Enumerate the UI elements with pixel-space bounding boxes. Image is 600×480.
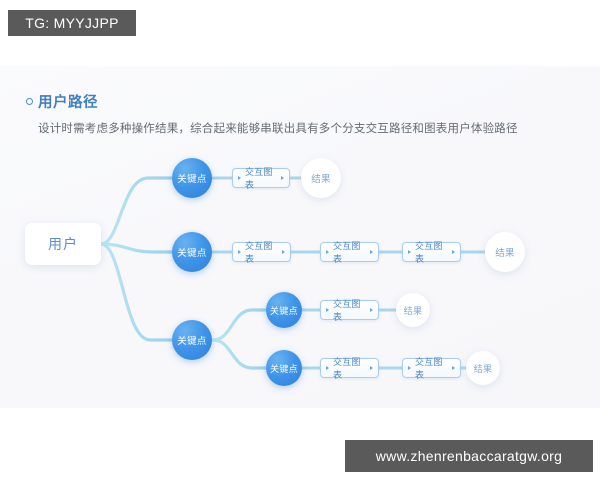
node-chart-branch-3a-0-label: 交互图表 (333, 297, 366, 323)
node-keypoint-branch-1[interactable]: 关键点 (172, 158, 212, 198)
watermark-bottom-text: www.zhenrenbaccaratgw.org (376, 449, 563, 463)
node-result-branch-3b[interactable]: 结果 (466, 351, 500, 385)
node-chart-branch-2-2[interactable]: 交互图表 (402, 242, 461, 262)
arrow-right-icon (282, 250, 285, 254)
node-result-branch-3b-label: 结果 (474, 362, 493, 375)
arrow-left-icon (238, 250, 241, 254)
arrow-left-icon (326, 308, 329, 312)
watermark-bottom-url: www.zhenrenbaccaratgw.org (345, 440, 593, 472)
node-chart-branch-1-0-label: 交互图表 (245, 165, 277, 191)
node-result-branch-1-label: 结果 (311, 171, 331, 185)
arrow-left-icon (326, 366, 329, 370)
node-chart-branch-3b-1-label: 交互图表 (415, 355, 448, 381)
watermark-top-text: TG: MYYJJPP (25, 16, 119, 30)
arrow-right-icon (281, 176, 284, 180)
node-user-root[interactable]: 用户 (25, 223, 101, 265)
node-chart-branch-3a-0[interactable]: 交互图表 (320, 300, 379, 320)
node-result-branch-2-label: 结果 (495, 245, 515, 259)
node-chart-branch-2-2-label: 交互图表 (415, 239, 448, 265)
node-keypoint-branch-3a-label: 关键点 (270, 304, 298, 317)
arrow-right-icon (370, 366, 373, 370)
node-keypoint-branch-3a[interactable]: 关键点 (266, 292, 302, 328)
node-chart-branch-2-0-label: 交互图表 (245, 239, 278, 265)
node-keypoint-branch-3b-label: 关键点 (270, 362, 298, 375)
arrow-left-icon (326, 250, 329, 254)
node-result-branch-3a-label: 结果 (404, 304, 423, 317)
node-result-branch-2[interactable]: 结果 (485, 232, 525, 272)
arrow-right-icon (452, 366, 455, 370)
node-chart-branch-1-0[interactable]: 交互图表 (232, 168, 290, 188)
arrow-left-icon (408, 366, 411, 370)
arrow-left-icon (238, 176, 241, 180)
arrow-left-icon (408, 250, 411, 254)
node-result-branch-1[interactable]: 结果 (301, 158, 341, 198)
node-keypoint-branch-3b[interactable]: 关键点 (266, 350, 302, 386)
node-keypoint-branch-3-label: 关键点 (177, 333, 206, 347)
arrow-right-icon (370, 308, 373, 312)
node-keypoint-branch-3[interactable]: 关键点 (172, 320, 212, 360)
node-user-root-label: 用户 (48, 234, 78, 254)
user-path-card: 用户路径 设计时需考虑多种操作结果，综合起来能够串联出具有多个分支交互路径和图表… (0, 66, 600, 408)
node-keypoint-branch-2[interactable]: 关键点 (172, 232, 212, 272)
node-chart-branch-2-0[interactable]: 交互图表 (232, 242, 291, 262)
node-chart-branch-3b-0[interactable]: 交互图表 (320, 358, 379, 378)
node-chart-branch-3b-1[interactable]: 交互图表 (402, 358, 461, 378)
user-path-diagram: 用户 关键点 交互图表 结果 关键点 交互图表 交互图表 (0, 66, 600, 408)
arrow-right-icon (370, 250, 373, 254)
node-keypoint-branch-2-label: 关键点 (177, 245, 206, 259)
node-chart-branch-3b-0-label: 交互图表 (333, 355, 366, 381)
arrow-right-icon (452, 250, 455, 254)
watermark-top-badge: TG: MYYJJPP (8, 10, 136, 36)
node-chart-branch-2-1[interactable]: 交互图表 (320, 242, 379, 262)
node-result-branch-3a[interactable]: 结果 (396, 293, 430, 327)
node-chart-branch-2-1-label: 交互图表 (333, 239, 366, 265)
node-keypoint-branch-1-label: 关键点 (177, 171, 206, 185)
